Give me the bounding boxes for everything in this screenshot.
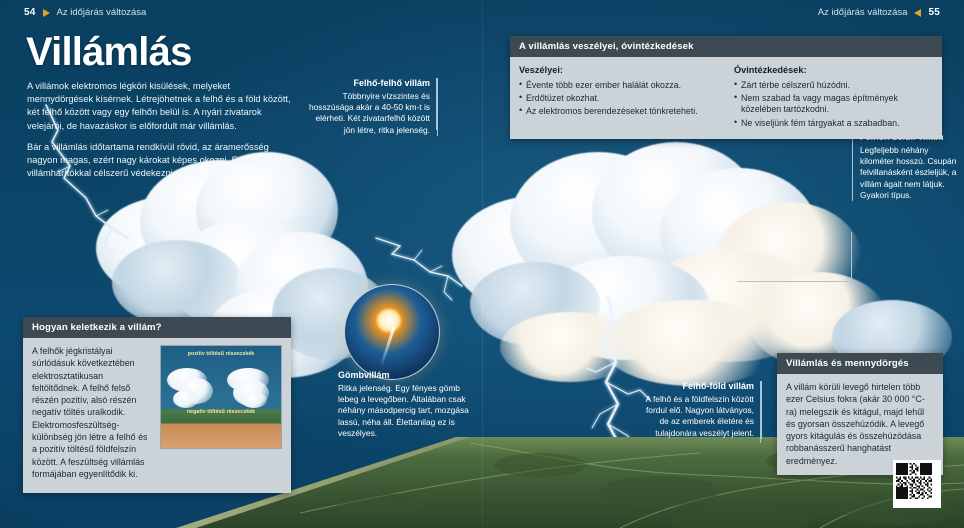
panel-dangers-left-column: Veszélyei: Évente több ezer ember halálá… [519, 64, 718, 131]
callout-intra-cloud-body: Legfeljebb néhány kilométer hosszú. Csup… [860, 145, 956, 200]
callout-ball-lightning-title: Gömbvillám [338, 370, 474, 381]
panel-dangers-right-title: Óvintézkedések: [734, 64, 933, 77]
charge-diagram: pozitív töltésű részecskék negatív tölté… [160, 345, 282, 449]
panel-formation-body: A felhők jégkristályai súrlódásuk követk… [23, 338, 291, 493]
ball-lightning-trail [380, 327, 396, 368]
callout-ball-lightning: Gömbvillám Ritka jelenség. Egy fényes gö… [338, 370, 474, 439]
panel-formation-text: A felhők jégkristályai súrlódásuk követk… [32, 345, 152, 480]
callout-cloud-to-ground-body: A felhő és a földfelszín között fordul e… [646, 394, 754, 438]
qr-code-icon[interactable] [893, 460, 941, 508]
page-spine [482, 0, 483, 528]
intro-paragraph-2: Bár a villámlás időtartama rendkívül röv… [27, 141, 295, 181]
list-item: Erdőtüzet okozhat. [519, 93, 718, 105]
header-left: 54 Az időjárás változása [24, 7, 146, 18]
panel-thunder: Villámlás és mennydörgés A villám körüli… [777, 353, 943, 475]
triangle-right-icon [43, 9, 50, 17]
charge-diagram-label-bottom: negatív töltésű részecskék [161, 409, 281, 416]
panel-dangers-right-list: Zárt térbe célszerű húzódni. Nem szabad … [734, 80, 933, 129]
callout-cloud-to-cloud: Felhő-felhő villám Többnyire vízszintes … [308, 78, 438, 136]
panel-dangers: A villámlás veszélyei, óvintézkedések Ve… [510, 36, 942, 139]
leader-line-cloud-to-ground [760, 381, 761, 443]
header-right: Az időjárás változása 55 [818, 7, 940, 18]
right-running-head: Az időjárás változása [818, 7, 908, 18]
list-item: Nem szabad fa vagy magas építmények köze… [734, 93, 933, 116]
textbook-spread: 54 Az időjárás változása Az időjárás vál… [0, 0, 964, 528]
leader-line-cloud-to-cloud [436, 78, 437, 130]
leader-line-intra-cloud-horizontal [737, 281, 852, 282]
callout-ball-lightning-body: Ritka jelenség. Egy fényes gömb lebeg a … [338, 383, 469, 438]
panel-dangers-left-list: Évente több ezer ember halálát okozza. E… [519, 80, 718, 118]
leader-line-intra-cloud-vertical [851, 232, 852, 282]
list-item: Zárt térbe célszerű húzódni. [734, 80, 933, 92]
callout-intra-cloud: Felhőn belüli villám Legfeljebb néhány k… [852, 132, 964, 201]
panel-formation-header: Hogyan keletkezik a villám? [23, 317, 291, 338]
callout-cloud-to-ground: Felhő-föld villám A felhő és a földfelsz… [636, 381, 762, 439]
callout-cloud-to-cloud-body: Többnyire vízszintes és hosszúsága akár … [309, 91, 430, 135]
list-item: Ne viseljünk fém tárgyakat a szabadban. [734, 118, 933, 130]
triangle-left-icon [914, 9, 921, 17]
panel-dangers-right-column: Óvintézkedések: Zárt térbe célszerű húzó… [734, 64, 933, 131]
panel-thunder-header: Villámlás és mennydörgés [777, 353, 943, 374]
list-item: Az elektromos berendezéseket tönkretehet… [519, 106, 718, 118]
panel-thunder-text: A villám körüli levegő hirtelen több eze… [786, 381, 934, 467]
page-header: 54 Az időjárás változása Az időjárás vál… [0, 0, 964, 26]
page-title: Villámlás [26, 32, 192, 72]
panel-dangers-header: A villámlás veszélyei, óvintézkedések [510, 36, 942, 57]
left-page-number: 54 [24, 7, 36, 18]
panel-dangers-body: Veszélyei: Évente több ezer ember halálá… [510, 57, 942, 139]
charge-diagram-label-top: pozitív töltésű részecskék [161, 351, 281, 358]
right-page-number: 55 [928, 7, 940, 18]
intro-paragraph-1: A villámok elektromos légköri kisülések,… [27, 80, 295, 133]
ball-lightning-photo [344, 284, 440, 380]
callout-cloud-to-cloud-title: Felhő-felhő villám [308, 78, 430, 89]
ball-lightning-core [377, 309, 401, 332]
panel-dangers-left-title: Veszélyei: [519, 64, 718, 77]
panel-formation: Hogyan keletkezik a villám? A felhők jég… [23, 317, 291, 493]
list-item: Évente több ezer ember halálát okozza. [519, 80, 718, 92]
callout-cloud-to-ground-title: Felhő-föld villám [636, 381, 754, 392]
intro-text: A villámok elektromos légköri kisülések,… [27, 80, 295, 188]
left-running-head: Az időjárás változása [57, 7, 147, 18]
